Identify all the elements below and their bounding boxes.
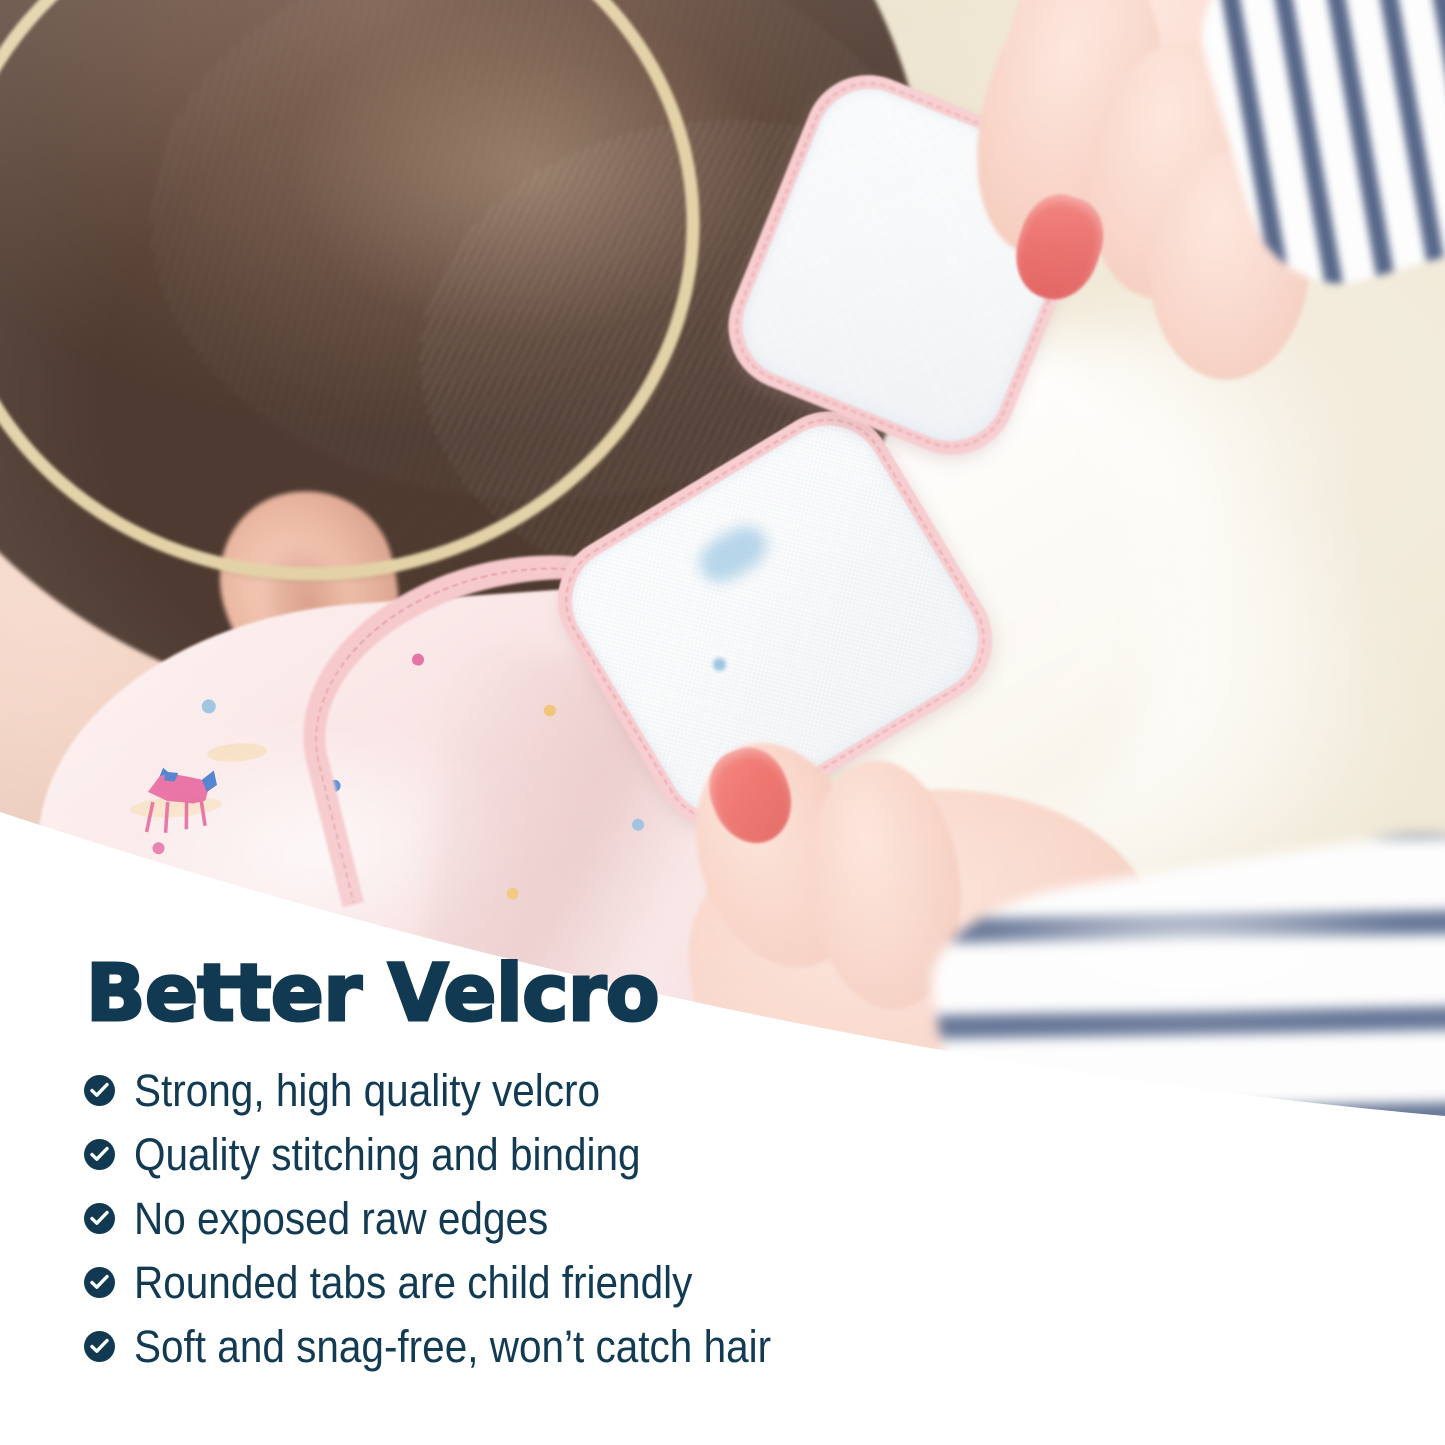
check-circle-icon (84, 1139, 115, 1170)
feature-list: Strong, high quality velcro Quality stit… (84, 1058, 1324, 1378)
list-item: Soft and snag-free, won’t catch hair (84, 1314, 1324, 1378)
list-item-label: Strong, high quality velcro (134, 1068, 600, 1113)
check-circle-icon (84, 1331, 115, 1362)
list-item-label: Soft and snag-free, won’t catch hair (134, 1324, 771, 1369)
check-circle-icon (84, 1075, 115, 1106)
list-item-label: No exposed raw edges (134, 1196, 548, 1241)
list-item-label: Quality stitching and binding (134, 1132, 641, 1177)
product-feature-graphic: Better Velcro Strong, high quality velcr… (0, 0, 1445, 1445)
list-item: No exposed raw edges (84, 1186, 1324, 1250)
list-item: Strong, high quality velcro (84, 1058, 1324, 1122)
check-circle-icon (84, 1267, 115, 1298)
page-title: Better Velcro (86, 955, 659, 1033)
copy-block: Better Velcro Strong, high quality velcr… (0, 0, 1445, 1445)
list-item: Quality stitching and binding (84, 1122, 1324, 1186)
list-item-label: Rounded tabs are child friendly (134, 1260, 692, 1305)
list-item: Rounded tabs are child friendly (84, 1250, 1324, 1314)
check-circle-icon (84, 1203, 115, 1234)
